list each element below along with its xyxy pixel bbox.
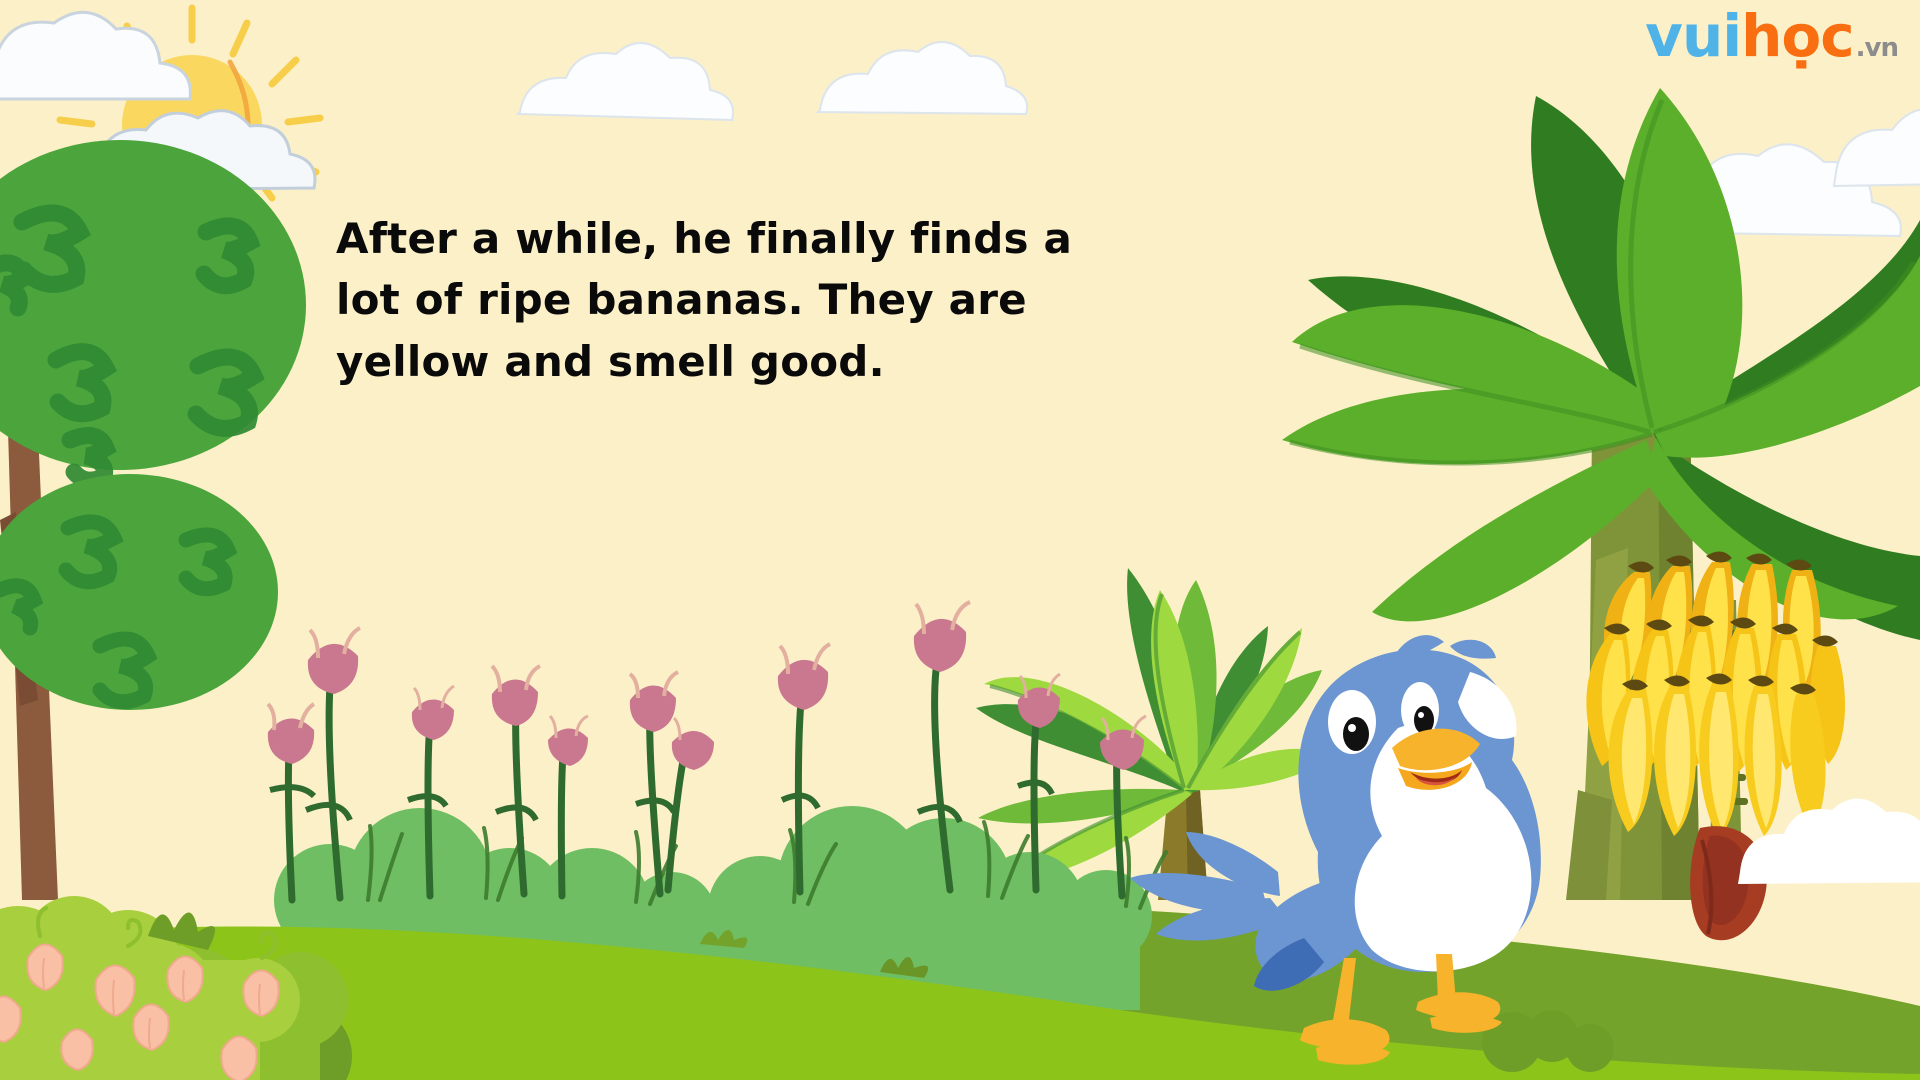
narration-line-2: lot of ripe bananas. They are (336, 269, 1016, 330)
narration-line-1: After a while, he finally finds a (336, 208, 1016, 269)
rose (133, 1004, 168, 1050)
rose (167, 956, 202, 1002)
logo-text-hoc: học (1741, 2, 1854, 70)
vuihoc-logo[interactable]: vui học .vn (1645, 2, 1898, 70)
logo-text-tld: .vn (1856, 33, 1898, 63)
scene-illustration (0, 0, 1920, 1080)
story-slide-stage: After a while, he finally finds a lot of… (0, 0, 1920, 1080)
bird-eye-left (1328, 690, 1376, 754)
logo-text-vui: vui (1645, 2, 1741, 70)
narration-line-3: yellow and smell good. (336, 331, 1016, 392)
rose (221, 1036, 256, 1080)
rose (61, 1029, 92, 1070)
rose (27, 944, 62, 990)
rose (243, 970, 278, 1016)
narration-text: After a while, he finally finds a lot of… (336, 208, 1016, 392)
